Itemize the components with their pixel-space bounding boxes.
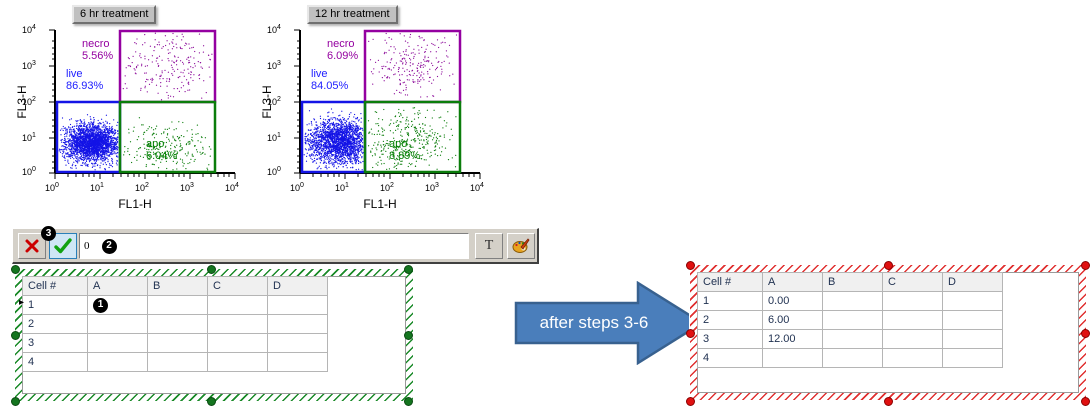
left-r1-c[interactable] [208,296,268,315]
right-r2-d[interactable] [943,311,1003,330]
plot1-ytick-2: 102 [22,96,36,107]
left-col-a[interactable]: A [88,277,148,296]
plot1-ytick-0: 100 [22,166,36,177]
color-palette-button[interactable] [507,233,535,259]
left-handle-e[interactable] [404,331,413,340]
right-col-d[interactable]: D [943,273,1003,292]
left-col-cell[interactable]: Cell # [23,277,88,296]
left-r1-cell[interactable]: 1 [23,296,88,315]
table-row[interactable]: 1 1 [23,296,328,315]
right-r1-c[interactable] [883,292,943,311]
left-r2-cell[interactable]: 2 [23,315,88,334]
right-col-b[interactable]: B [823,273,883,292]
right-handle-ne[interactable] [1081,261,1090,270]
right-col-a[interactable]: A [763,273,823,292]
plot2-ytick-0: 100 [267,166,281,177]
right-table[interactable]: Cell # A B C D 1 0.00 2 6.00 3 12.00 [697,272,1003,368]
plot2-ytick-4: 104 [267,24,281,35]
left-table-row-indicator: ▸ [19,297,24,308]
right-table-header-row: Cell # A B C D [698,273,1003,292]
plot1-xtick-2: 102 [135,182,149,193]
right-r2-c[interactable] [883,311,943,330]
color-palette-icon [512,238,530,254]
table-row[interactable]: 3 12.00 [698,330,1003,349]
table-row[interactable]: 1 0.00 [698,292,1003,311]
table-row[interactable]: 2 6.00 [698,311,1003,330]
table-row[interactable]: 3 [23,334,328,353]
plot1-ytick-1: 101 [22,132,36,143]
plot1-gate-live-name: live [66,68,103,80]
right-r4-cell[interactable]: 4 [698,349,763,368]
right-r4-d[interactable] [943,349,1003,368]
left-r3-b[interactable] [148,334,208,353]
left-r1-d[interactable] [268,296,328,315]
formula-bar: 0 2 T [12,228,539,264]
plot2-ytick-2: 102 [267,96,281,107]
plot1-gate-necro-name: necro [82,38,113,50]
left-r4-b[interactable] [148,353,208,372]
left-handle-ne[interactable] [404,265,413,274]
right-r3-cell[interactable]: 3 [698,330,763,349]
left-table-header-row: Cell # A B C D [23,277,328,296]
plot1-x-axis-label: FL1-H [95,197,175,211]
plot1-xtick-4: 104 [225,182,239,193]
right-r4-c[interactable] [883,349,943,368]
right-col-c[interactable]: C [883,273,943,292]
right-r3-c[interactable] [883,330,943,349]
plot1-scatter [0,20,255,210]
left-table[interactable]: Cell # A B C D 1 1 2 3 [22,276,328,372]
plot1-xtick-0: 100 [45,182,59,193]
left-handle-n[interactable] [207,265,216,274]
left-r2-b[interactable] [148,315,208,334]
plot2-xtick-1: 101 [335,182,349,193]
plot1-gate-necro-value: 5.56% [82,50,113,62]
formula-input[interactable]: 0 2 [79,233,469,259]
left-r2-c[interactable] [208,315,268,334]
plot2-gate-necro-value: 6.09% [327,50,358,62]
right-r3-a[interactable]: 12.00 [763,330,823,349]
plot1-xtick-1: 101 [90,182,104,193]
left-handle-se[interactable] [404,397,413,406]
right-r3-d[interactable] [943,330,1003,349]
right-r1-cell[interactable]: 1 [698,292,763,311]
plot2-xtick-3: 103 [425,182,439,193]
left-r4-d[interactable] [268,353,328,372]
plot1-gate-apo-value: 6.04% [146,150,177,162]
plot1-gate-live-value: 86.93% [66,80,103,92]
green-check-icon [54,238,72,254]
plot2-scatter [245,20,500,210]
right-r3-b[interactable] [823,330,883,349]
left-r4-a[interactable] [88,353,148,372]
plot1-gate-apo-name: apo [146,138,177,150]
left-table-sheet[interactable]: Cell # A B C D 1 1 2 3 [22,276,406,394]
plot2-xtick-2: 102 [380,182,394,193]
left-r2-a[interactable] [88,315,148,334]
right-r1-b[interactable] [823,292,883,311]
right-r2-a[interactable]: 6.00 [763,311,823,330]
left-r3-a[interactable] [88,334,148,353]
right-r2-b[interactable] [823,311,883,330]
plot2-ytick-3: 103 [267,60,281,71]
left-r3-c[interactable] [208,334,268,353]
left-r1-a[interactable]: 1 [88,296,148,315]
left-handle-s[interactable] [207,397,216,406]
right-r4-a[interactable] [763,349,823,368]
right-handle-e[interactable] [1081,329,1090,338]
right-col-cell[interactable]: Cell # [698,273,763,292]
left-r2-d[interactable] [268,315,328,334]
plot2-gate-apo-name: apo [389,138,420,150]
step-badge-1: 1 [93,298,108,313]
left-r3-d[interactable] [268,334,328,353]
left-r4-cell[interactable]: 4 [23,353,88,372]
right-handle-s[interactable] [884,397,893,406]
right-handle-nw[interactable] [686,261,695,270]
left-col-c[interactable]: C [208,277,268,296]
step-badge-3: 3 [41,226,56,241]
left-handle-nw[interactable] [11,265,20,274]
text-format-button[interactable]: T [475,233,503,259]
left-handle-sw[interactable] [11,397,20,406]
left-col-b[interactable]: B [148,277,208,296]
left-handle-w[interactable] [11,331,20,340]
right-r1-d[interactable] [943,292,1003,311]
plot2-gate-necro: necro 6.09% [327,38,358,62]
red-x-icon [24,238,40,254]
plot1-ytick-4: 104 [22,24,36,35]
plot1-gate-apo: apo 6.04% [146,138,177,162]
table-row[interactable]: 2 [23,315,328,334]
text-tool-label: T [485,238,494,254]
plot2-gate-live-name: live [311,68,348,80]
plot1-xtick-3: 103 [180,182,194,193]
right-r4-b[interactable] [823,349,883,368]
table-row[interactable]: 4 [23,353,328,372]
right-handle-w[interactable] [686,329,695,338]
left-col-d[interactable]: D [268,277,328,296]
plot2-gate-apo-value: 8.89% [389,150,420,162]
right-r2-cell[interactable]: 2 [698,311,763,330]
plot2-gate-necro-name: necro [327,38,358,50]
plot2-xtick-4: 104 [470,182,484,193]
right-r1-a[interactable]: 0.00 [763,292,823,311]
plot1-ytick-3: 103 [22,60,36,71]
arrow-label: after steps 3-6 [514,281,674,365]
plot2-gate-live: live 84.05% [311,68,348,92]
left-r4-c[interactable] [208,353,268,372]
right-handle-se[interactable] [1081,397,1090,406]
plot2-gate-apo: apo 8.89% [389,138,420,162]
formula-value: 0 [84,240,90,252]
left-r3-cell[interactable]: 3 [23,334,88,353]
left-r1-b[interactable] [148,296,208,315]
plot2-gate-live-value: 84.05% [311,80,348,92]
after-steps-arrow: after steps 3-6 [514,281,704,365]
right-table-sheet[interactable]: Cell # A B C D 1 0.00 2 6.00 3 12.00 [697,272,1079,393]
plot2-ytick-1: 101 [267,132,281,143]
plot1-gate-live: live 86.93% [66,68,103,92]
plot1-gate-necro: necro 5.56% [82,38,113,62]
right-handle-sw[interactable] [686,397,695,406]
table-row[interactable]: 4 [698,349,1003,368]
right-handle-n[interactable] [884,261,893,270]
plot2-xtick-0: 100 [290,182,304,193]
step-badge-2: 2 [102,239,117,254]
plot2-x-axis-label: FL1-H [340,197,420,211]
